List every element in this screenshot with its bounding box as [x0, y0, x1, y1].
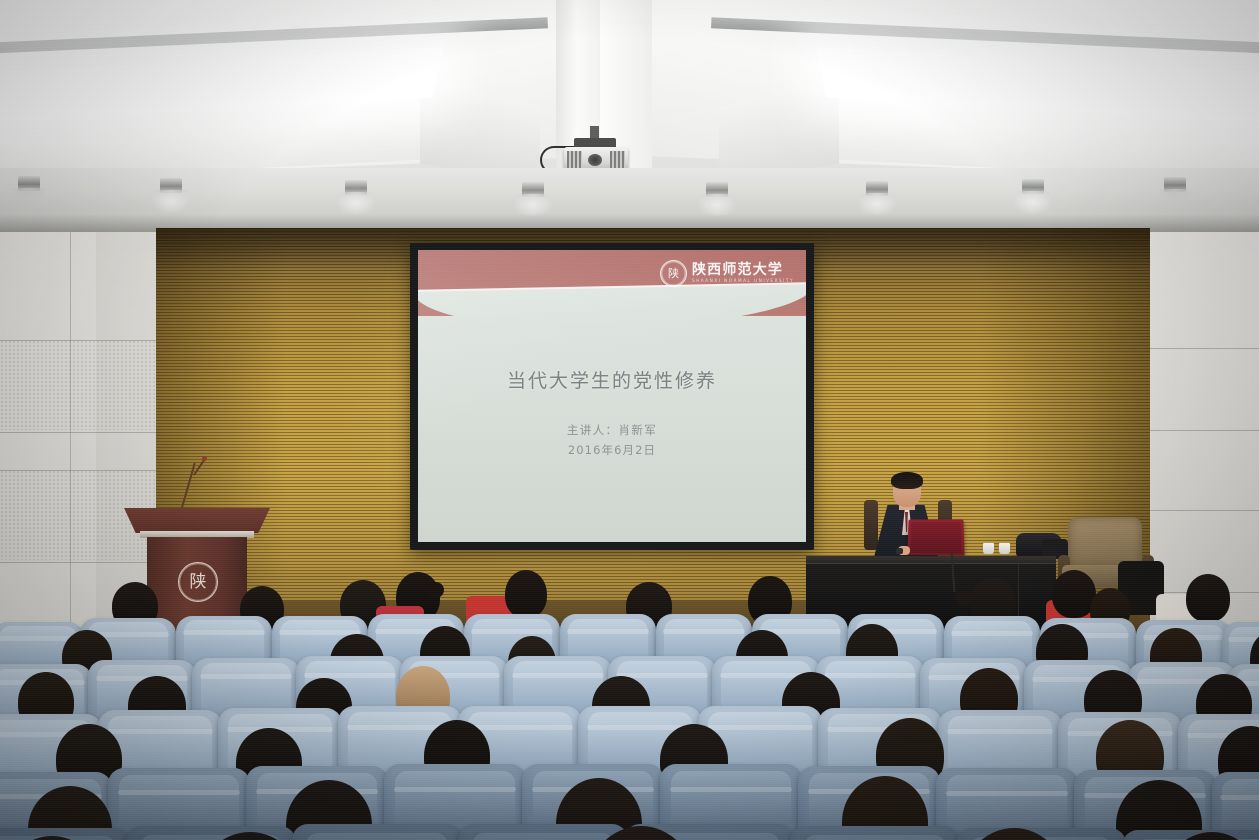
seat-band — [471, 629, 554, 634]
seat-band — [951, 631, 1034, 636]
slide-wave-body — [418, 284, 806, 332]
seat — [458, 824, 628, 840]
seat-band — [670, 787, 792, 792]
university-logo-text: 陕西师范大学 SHAANXI NORMAL UNIVERSITY — [692, 263, 794, 283]
university-name-en: SHAANXI NORMAL UNIVERSITY — [692, 279, 794, 283]
wall-seam-right-2 — [1148, 430, 1259, 431]
seat — [790, 826, 960, 840]
downlight-glow-1 — [151, 188, 191, 214]
projection-screen: 陕 陕西师范大学 SHAANXI NORMAL UNIVERSITY 当代大学生… — [418, 250, 806, 542]
seat-band — [107, 729, 214, 734]
laptop-icon — [907, 520, 964, 556]
microphone-icon — [202, 456, 207, 461]
laptop-screen — [911, 522, 962, 553]
projection-screen-frame: 陕 陕西师范大学 SHAANXI NORMAL UNIVERSITY 当代大学生… — [410, 243, 814, 550]
downlight-icon-7 — [1164, 177, 1186, 192]
acoustic-panel-left-1 — [0, 340, 158, 430]
downlight-glow-2 — [336, 190, 376, 216]
seat-band — [512, 673, 605, 678]
seat-band — [824, 673, 917, 678]
wall-seam-left-2 — [0, 432, 158, 433]
university-logo: 陕 陕西师范大学 SHAANXI NORMAL UNIVERSITY — [660, 260, 794, 287]
university-name-cn: 陕西师范大学 — [692, 263, 794, 277]
seat-band — [567, 629, 650, 634]
seat-band — [467, 725, 574, 730]
cup-icon-1 — [983, 543, 994, 554]
seat-band — [663, 629, 746, 634]
downlight-glow-6 — [1013, 189, 1053, 215]
speaker-chair-left — [864, 500, 878, 550]
seal-glyph: 陕 — [668, 268, 679, 279]
slide-date: 2016年6月2日 — [418, 442, 806, 458]
seat-band — [118, 790, 240, 795]
projector-vent-right — [610, 151, 625, 168]
cup-icon-2 — [999, 543, 1010, 554]
seat-band — [946, 791, 1068, 796]
slide-title: 当代大学生的党性修养 — [418, 366, 806, 393]
wall-seam-left-3 — [0, 470, 158, 471]
seat-band — [183, 630, 266, 635]
podium-top — [124, 508, 270, 533]
seat-band — [394, 787, 516, 792]
wall-seam-right-3 — [1148, 510, 1259, 511]
seat-band — [947, 729, 1054, 734]
university-seal-icon: 陕 — [660, 260, 687, 287]
audience-head — [1186, 574, 1230, 622]
downlight-icon-8 — [18, 176, 40, 191]
speaker-hair — [891, 472, 923, 489]
presentation-clicker-icon — [896, 548, 903, 554]
projector-vent-left — [567, 151, 582, 168]
seat-band — [1220, 795, 1259, 800]
seat-band — [200, 674, 293, 679]
wall-seam-left-1 — [0, 340, 158, 341]
audience-hair-bun — [956, 590, 972, 606]
wall-seam-right-1 — [1148, 348, 1259, 349]
seat-band — [707, 725, 814, 730]
audience-head — [505, 570, 547, 618]
seat-band — [0, 636, 78, 641]
projector-lens — [588, 154, 602, 166]
seat — [292, 824, 462, 840]
lecture-hall-photo: 陕 陕西师范大学 SHAANXI NORMAL UNIVERSITY 当代大学生… — [0, 0, 1259, 840]
audience-hair-bun — [428, 582, 444, 598]
audience-seating — [0, 560, 1259, 840]
seat-band — [304, 673, 397, 678]
slide-presenter: 主讲人：肖新军 — [418, 422, 806, 438]
